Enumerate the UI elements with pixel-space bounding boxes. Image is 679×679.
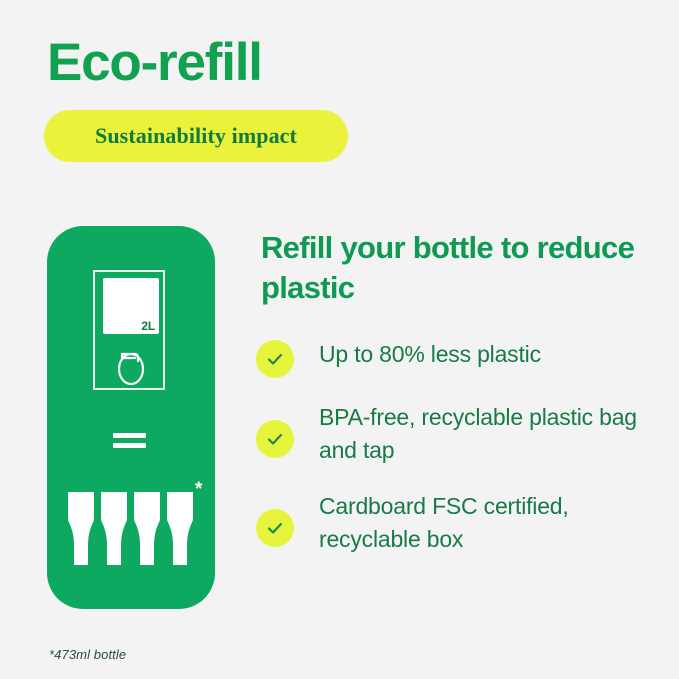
bottle-icon [134, 492, 160, 565]
check-icon [256, 509, 294, 547]
product-card-illustration: 2L * [47, 226, 215, 609]
list-item: Cardboard FSC certified, recyclable box [256, 490, 666, 556]
list-item-label: Cardboard FSC certified, recyclable box [319, 490, 666, 556]
list-item-label: BPA-free, recyclable plastic bag and tap [319, 401, 666, 467]
pouch-outline-frame: 2L [93, 270, 165, 390]
infographic-page: Eco-refill Sustainability impact 2L [0, 0, 679, 679]
bottle-icon [68, 492, 94, 565]
bottle-icon [167, 492, 193, 565]
status-badge-label: Sustainability impact [95, 123, 297, 149]
tap-pouch-icon [109, 344, 153, 386]
equals-icon [113, 433, 146, 449]
footnote-asterisk-marker: * [195, 480, 202, 499]
pouch-volume-label: 2L [141, 319, 155, 333]
footnote-text: *473ml bottle [49, 647, 126, 662]
list-item-label: Up to 80% less plastic [319, 338, 541, 371]
list-item: BPA-free, recyclable plastic bag and tap [256, 401, 666, 467]
page-title: Eco-refill [47, 34, 262, 92]
check-icon [256, 340, 294, 378]
status-badge: Sustainability impact [44, 110, 348, 162]
list-item: Up to 80% less plastic [256, 338, 666, 378]
refill-pouch-graphic: 2L [103, 278, 159, 334]
bottle-icon [101, 492, 127, 565]
bottle-row [68, 492, 194, 565]
benefits-list: Up to 80% less plastic BPA-free, recycla… [256, 338, 666, 556]
section-heading: Refill your bottle to reduce plastic [261, 228, 641, 308]
check-icon [256, 420, 294, 458]
